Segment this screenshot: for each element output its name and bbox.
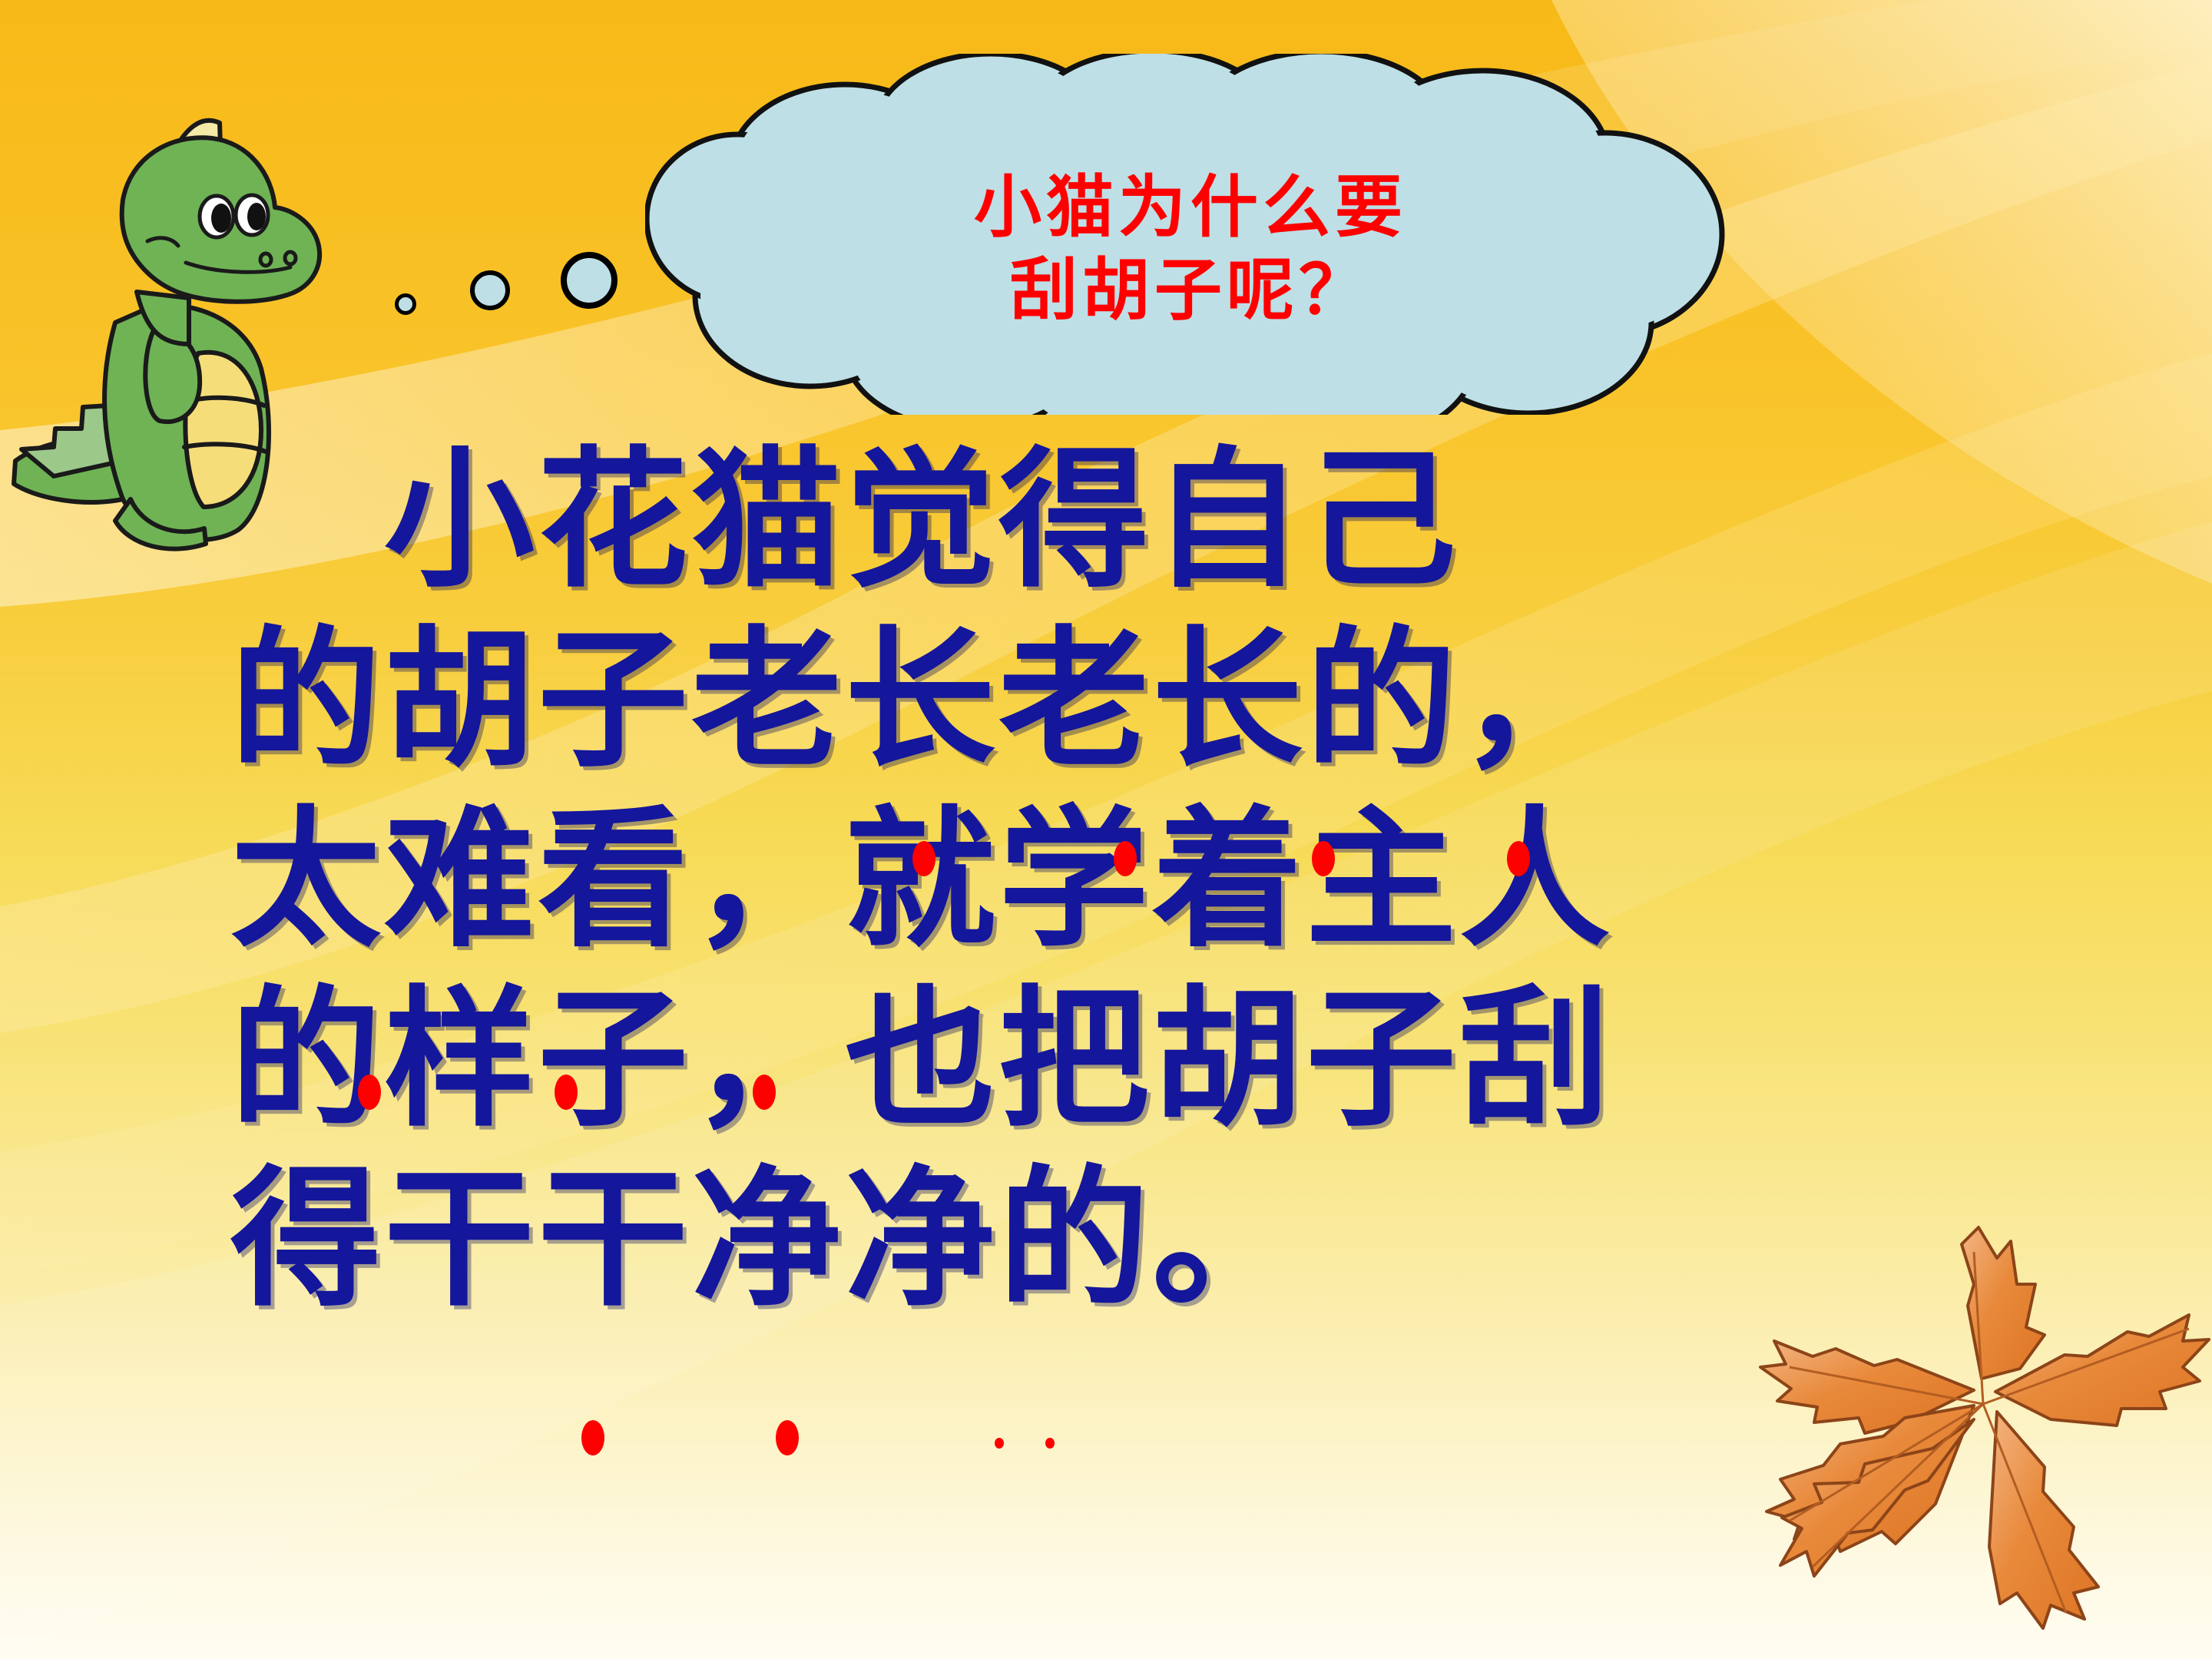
thought-bubble-line-1: 小猫为什么要 [974, 167, 1407, 247]
emphasis-dot [912, 841, 935, 876]
thought-trail-dot-medium [470, 270, 510, 310]
thought-trail-dot-large [561, 252, 618, 309]
thought-bubble-line-2: 刮胡子呢？ [645, 249, 1736, 332]
emphasis-dot [1045, 1438, 1055, 1449]
emphasis-dot [1114, 841, 1137, 876]
emphasis-dot [358, 1075, 381, 1110]
story-line-5: 得干干净净的。 [230, 1149, 2012, 1329]
story-paragraph: 小花猫觉得自己 的胡子老长老长的， 太难看，就学着主人 的样子，也把胡子刮 得干… [230, 430, 2012, 1329]
emphasis-dot [1312, 841, 1335, 876]
story-line-4: 的样子，也把胡子刮 [230, 969, 2012, 1149]
emphasis-dot [753, 1075, 776, 1110]
story-line-1: 小花猫觉得自己 [230, 430, 2012, 610]
emphasis-dot [1507, 841, 1530, 876]
slide-canvas: 小猫为什么要 刮胡子呢？ 小花猫觉得自己 的胡子老长老长的， 太难看，就学着主人… [0, 0, 2212, 1659]
emphasis-dot [555, 1075, 578, 1110]
thought-trail-dot-small [395, 293, 416, 315]
story-line-2: 的胡子老长老长的， [230, 610, 2012, 790]
emphasis-dot [581, 1420, 604, 1455]
emphasis-dot [995, 1438, 1004, 1449]
story-line-3: 太难看，就学着主人 [230, 790, 2012, 969]
thought-bubble-text: 小猫为什么要 刮胡子呢？ [645, 83, 1736, 415]
emphasis-dot [776, 1420, 799, 1455]
